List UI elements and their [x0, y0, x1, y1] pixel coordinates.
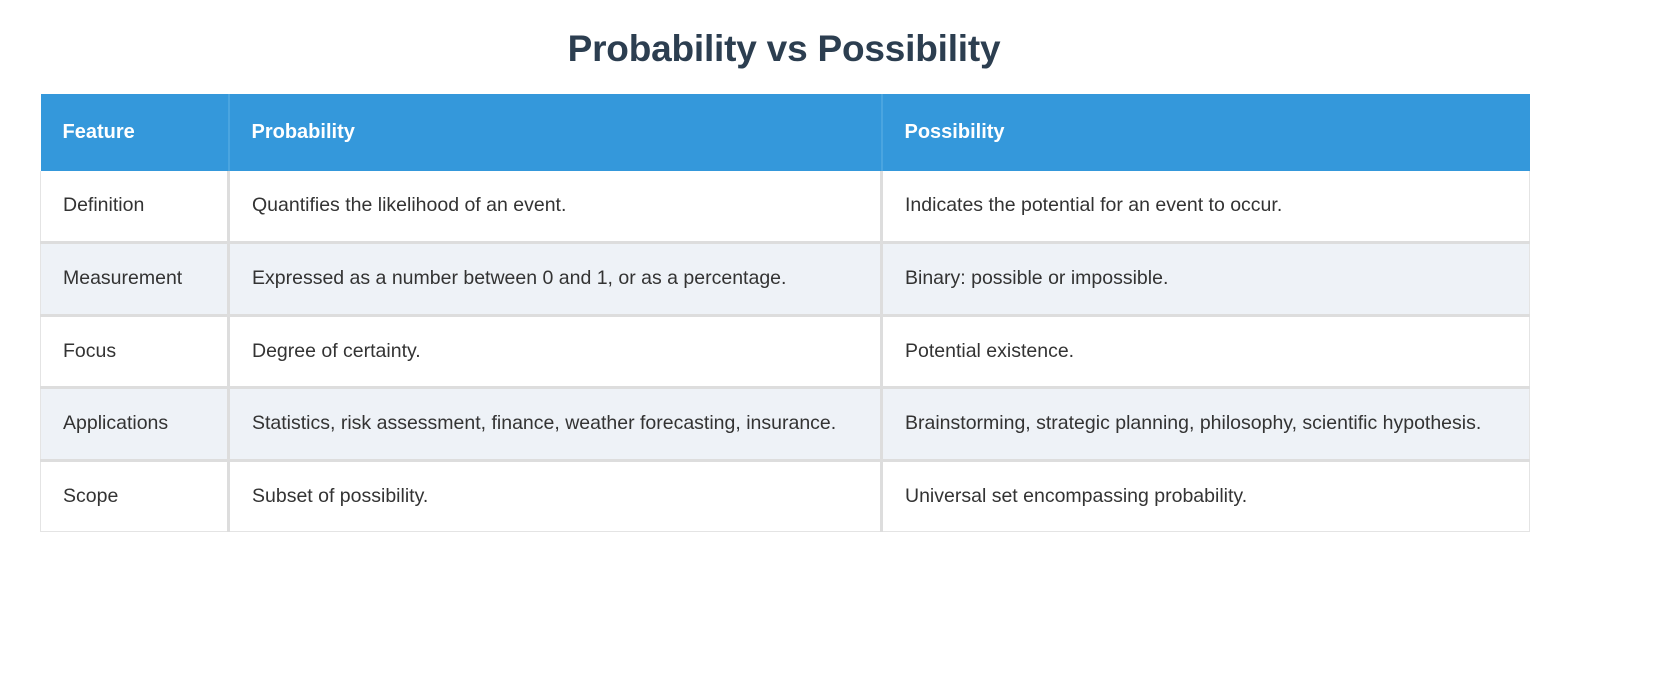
table-header: Feature Probability Possibility: [41, 94, 1530, 171]
table-header-row: Feature Probability Possibility: [41, 94, 1530, 171]
table-row: Scope Subset of possibility. Universal s…: [41, 460, 1530, 532]
table-body: Definition Quantifies the likelihood of …: [41, 171, 1530, 532]
feature-label: Applications: [63, 409, 205, 439]
page-title: Probability vs Possibility: [0, 0, 1568, 72]
possibility-text: Universal set encompassing probability.: [905, 482, 1507, 512]
probability-text: Statistics, risk assessment, finance, we…: [252, 409, 858, 439]
cell-feature: Scope: [41, 460, 229, 532]
feature-label: Definition: [63, 191, 205, 221]
cell-feature: Applications: [41, 388, 229, 461]
cell-feature: Focus: [41, 315, 229, 388]
comparison-table: Feature Probability Possibility Definiti…: [40, 94, 1530, 532]
probability-text: Degree of certainty.: [252, 337, 858, 367]
probability-text: Expressed as a number between 0 and 1, o…: [252, 264, 858, 294]
feature-label: Scope: [63, 482, 205, 512]
feature-label: Measurement: [63, 264, 205, 294]
cell-probability: Expressed as a number between 0 and 1, o…: [229, 242, 882, 315]
possibility-text: Indicates the potential for an event to …: [905, 191, 1507, 221]
table-row: Focus Degree of certainty. Potential exi…: [41, 315, 1530, 388]
cell-possibility: Brainstorming, strategic planning, philo…: [882, 388, 1530, 461]
table-row: Measurement Expressed as a number betwee…: [41, 242, 1530, 315]
column-header-probability[interactable]: Probability: [229, 94, 882, 171]
cell-possibility: Binary: possible or impossible.: [882, 242, 1530, 315]
comparison-table-wrapper: Feature Probability Possibility Definiti…: [40, 94, 1529, 532]
comparison-page: Probability vs Possibility Feature Proba…: [0, 0, 1680, 698]
feature-label: Focus: [63, 337, 205, 367]
column-header-feature[interactable]: Feature: [41, 94, 229, 171]
possibility-text: Brainstorming, strategic planning, philo…: [905, 409, 1507, 439]
cell-probability: Quantifies the likelihood of an event.: [229, 171, 882, 242]
probability-text: Subset of possibility.: [252, 482, 858, 512]
cell-possibility: Potential existence.: [882, 315, 1530, 388]
cell-feature: Definition: [41, 171, 229, 242]
table-row: Applications Statistics, risk assessment…: [41, 388, 1530, 461]
table-row: Definition Quantifies the likelihood of …: [41, 171, 1530, 242]
column-header-possibility[interactable]: Possibility: [882, 94, 1530, 171]
cell-possibility: Indicates the potential for an event to …: [882, 171, 1530, 242]
possibility-text: Potential existence.: [905, 337, 1507, 367]
cell-probability: Subset of possibility.: [229, 460, 882, 532]
possibility-text: Binary: possible or impossible.: [905, 264, 1507, 294]
cell-probability: Statistics, risk assessment, finance, we…: [229, 388, 882, 461]
cell-feature: Measurement: [41, 242, 229, 315]
cell-probability: Degree of certainty.: [229, 315, 882, 388]
cell-possibility: Universal set encompassing probability.: [882, 460, 1530, 532]
probability-text: Quantifies the likelihood of an event.: [252, 191, 858, 221]
